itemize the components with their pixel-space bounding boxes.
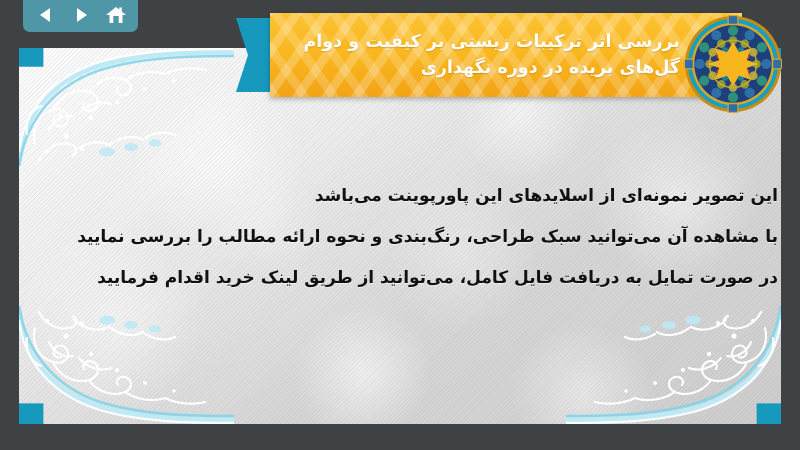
slide-title-line-1: بررسی اثر ترکیبات زیستی بر کیفیت و دوام: [303, 30, 680, 55]
previous-slide-icon: [36, 5, 56, 25]
body-line-1: این تصویر نمونه‌ای از اسلایدهای این پاور…: [38, 176, 778, 217]
body-line-3: در صورت تمایل به دریافت فایل کامل، می‌تو…: [38, 258, 778, 299]
slide-navigation-bar: [23, 0, 138, 32]
next-slide-icon: [71, 5, 91, 25]
banner-gold-plate: بررسی اثر ترکیبات زیستی بر کیفیت و دوام …: [270, 13, 742, 97]
previous-slide-button[interactable]: [33, 2, 59, 28]
slide-body-text: این تصویر نمونه‌ای از اسلایدهای این پاور…: [38, 176, 781, 299]
slide-title-line-2: گل‌های بریده در دوره نگهداری: [421, 56, 680, 81]
home-icon: [105, 5, 127, 25]
body-line-2: با مشاهده آن می‌توانید سبک طراحی، رنگ‌بن…: [38, 217, 778, 258]
home-button[interactable]: [103, 2, 129, 28]
next-slide-button[interactable]: [68, 2, 94, 28]
persian-medallion-ornament: [684, 15, 782, 113]
presentation-viewer: این تصویر نمونه‌ای از اسلایدهای این پاور…: [0, 0, 800, 450]
slide-title-banner: بررسی اثر ترکیبات زیستی بر کیفیت و دوام …: [236, 13, 788, 107]
